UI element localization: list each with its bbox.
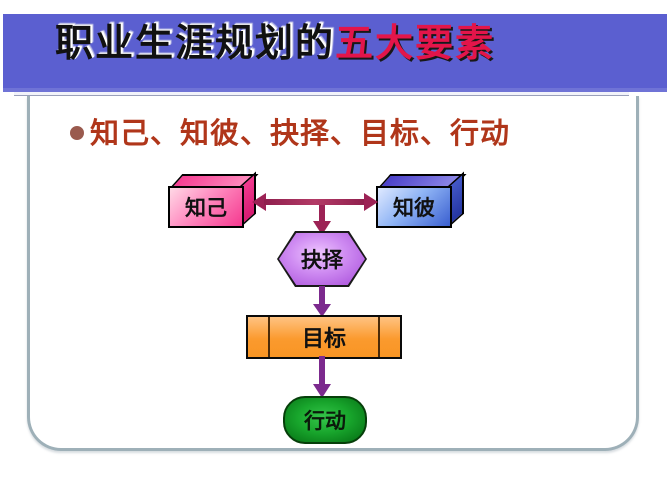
slide-canvas: 职业生涯规划的五大要素 知己、知彼、抉择、目标、行动 知己 知彼	[0, 0, 667, 500]
page-title-black: 职业生涯规划的	[55, 20, 335, 65]
connector-juezhe-mubiao-arrow-down-icon	[313, 286, 331, 317]
connector-mubiao-xingdong-arrow-down-icon	[313, 356, 331, 398]
node-juezhe[interactable]: 抉择	[277, 231, 367, 287]
node-xingdong[interactable]: 行动	[283, 396, 367, 444]
node-mubiao[interactable]: 目标	[246, 315, 402, 359]
title-underline	[14, 92, 629, 95]
node-juezhe-fill: 抉择	[279, 233, 365, 285]
bullet-line-label: 知己、知彼、抉择、目标、行动	[90, 110, 510, 152]
node-mubiao-right-bar	[378, 317, 380, 357]
node-zhibi-front-face: 知彼	[376, 186, 452, 228]
page-title-red: 五大要素	[335, 20, 495, 65]
node-mubiao-left-bar	[268, 317, 270, 357]
node-mubiao-label: 目标	[302, 321, 346, 353]
node-zhiji-label: 知己	[185, 192, 227, 222]
page-title: 职业生涯规划的五大要素	[55, 18, 495, 68]
arrow-shaft	[319, 286, 325, 305]
node-zhibi-label: 知彼	[393, 192, 435, 222]
arrow-shaft	[319, 356, 325, 384]
arrow-head-right-icon	[364, 193, 378, 211]
node-zhiji-front-face: 知己	[168, 186, 244, 228]
node-juezhe-label: 抉择	[301, 244, 343, 274]
node-xingdong-label: 行动	[304, 405, 346, 435]
bullet-dot-icon	[70, 126, 84, 140]
bullet-line: 知己、知彼、抉择、目标、行动	[70, 110, 510, 152]
